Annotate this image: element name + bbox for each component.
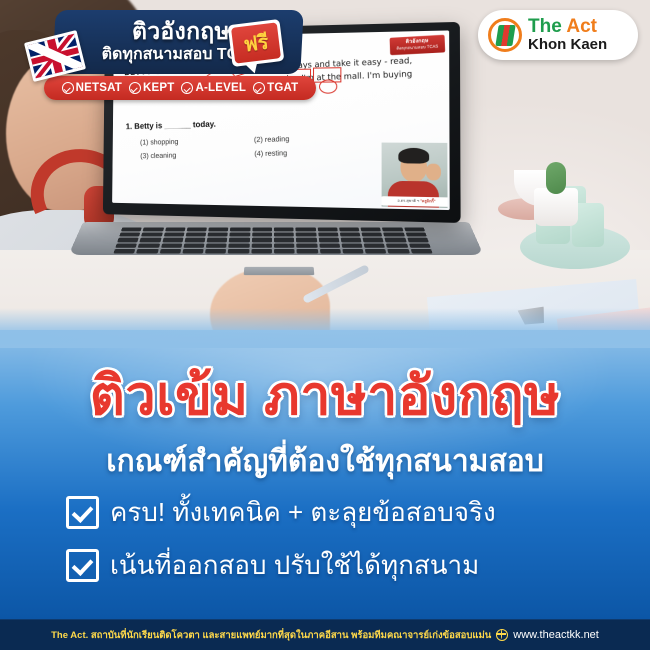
- exam-label-kept: KEPT: [143, 82, 174, 94]
- check-circle-icon: [181, 82, 193, 94]
- exam-label-tgat: TGAT: [267, 82, 298, 94]
- teacher-caption-name: "ครูมิกกี้": [420, 199, 435, 203]
- exam-label-netsat: NETSAT: [76, 82, 122, 94]
- brand-logo[interactable]: The Act Khon Kaen: [478, 10, 638, 60]
- free-badge-label: ฟรี: [231, 22, 281, 63]
- option-row: (3) cleaning (4) resting: [140, 146, 386, 160]
- logo-text: The Act Khon Kaen: [528, 17, 607, 53]
- checkbox-checked-icon: [66, 549, 99, 582]
- option-3-num: (3): [140, 151, 149, 160]
- screen-course-badge-sub: ติดทุกสนามสอบ TCAS: [396, 44, 438, 51]
- benefit-label: ครบ! ทั้งเทคนิค + ตะลุยข้อสอบจริง: [110, 492, 496, 533]
- union-jack-flag-icon: [24, 30, 86, 82]
- check-circle-icon: [62, 82, 74, 94]
- list-item: ครบ! ทั้งเทคนิค + ตะลุยข้อสอบจริง: [66, 492, 606, 533]
- cactus-plant: [546, 162, 566, 194]
- promotional-poster: ding 1 ติวอังกฤษ ติดทุกสนามสอบ TCAS BETT…: [0, 0, 650, 650]
- footer-tagline: The Act. สถาบันที่นักเรียนติดโควตา และสา…: [51, 628, 491, 643]
- teacher-hair: [398, 148, 429, 164]
- benefit-label: เน้นที่ออกสอบ ปรับใช้ได้ทุกสนาม: [110, 545, 479, 586]
- benefits-list: ครบ! ทั้งเทคนิค + ตะลุยข้อสอบจริง เน้นที…: [66, 492, 606, 598]
- option-1-num: (1): [140, 138, 149, 147]
- exam-list-pill: NETSAT KEPT A-LEVEL TGAT: [44, 76, 316, 100]
- exam-item-tgat: TGAT: [253, 82, 298, 94]
- teacher-video-thumbnail: อ.ดร.สุชาติ ฯ "ครูมิกกี้": [382, 143, 448, 208]
- logo-word-act: Act: [566, 16, 597, 37]
- teacher-caption-prefix: อ.ดร.สุชาติ ฯ: [397, 199, 419, 204]
- option-4: (4) resting: [254, 148, 287, 158]
- laptop-keyboard: [113, 227, 432, 253]
- option-3-text: cleaning: [150, 151, 176, 160]
- globe-icon: [496, 629, 508, 641]
- act-book-mark-icon: [488, 18, 522, 52]
- exam-item-alevel: A-LEVEL: [181, 82, 246, 94]
- option-1: (1) shopping: [140, 135, 254, 147]
- top-banner: ติวอังกฤษ ติดทุกสนามสอบ TCAS NETSAT KEPT…: [22, 8, 322, 104]
- option-4-text: resting: [265, 148, 287, 157]
- exam-item-netsat: NETSAT: [62, 82, 122, 94]
- option-2-num: (2): [254, 135, 263, 144]
- check-circle-icon: [129, 82, 141, 94]
- check-circle-icon: [253, 82, 265, 94]
- exam-label-alevel: A-LEVEL: [195, 82, 246, 94]
- option-4-num: (4): [254, 149, 263, 158]
- logo-word-the: The: [528, 16, 562, 37]
- exam-item-kept: KEPT: [129, 82, 174, 94]
- screen-course-badge: ติวอังกฤษ ติดทุกสนามสอบ TCAS: [390, 35, 446, 55]
- checkbox-checked-icon: [66, 496, 99, 529]
- logo-title: The Act: [528, 17, 607, 37]
- laptop-trackpad: [244, 267, 315, 275]
- teacher-hand: [426, 164, 441, 181]
- free-badge: ฟรี: [228, 19, 285, 67]
- footer-bar: The Act. สถาบันที่นักเรียนติดโควตา และสา…: [0, 619, 650, 650]
- page-subtitle: เกณฑ์สำคัญที่ต้องใช้ทุกสนามสอบ: [0, 438, 650, 485]
- hero-photo: ding 1 ติวอังกฤษ ติดทุกสนามสอบ TCAS BETT…: [0, 0, 650, 360]
- teacher-caption: อ.ดร.สุชาติ ฯ "ครูมิกกี้": [382, 196, 448, 207]
- list-item: เน้นที่ออกสอบ ปรับใช้ได้ทุกสนาม: [66, 545, 606, 586]
- footer-website-url[interactable]: www.theactkk.net: [513, 629, 599, 641]
- option-2: (2) reading: [254, 134, 290, 144]
- option-3: (3) cleaning: [140, 149, 254, 160]
- logo-subtitle: Khon Kaen: [528, 37, 607, 53]
- option-1-text: shopping: [150, 137, 178, 146]
- option-2-text: reading: [265, 134, 290, 144]
- flag-field: [28, 34, 83, 79]
- screen-options: (1) shopping (2) reading (3) cleaning (4…: [140, 132, 386, 165]
- page-title: ติวเข้ม ภาษาอังกฤษ: [0, 352, 650, 438]
